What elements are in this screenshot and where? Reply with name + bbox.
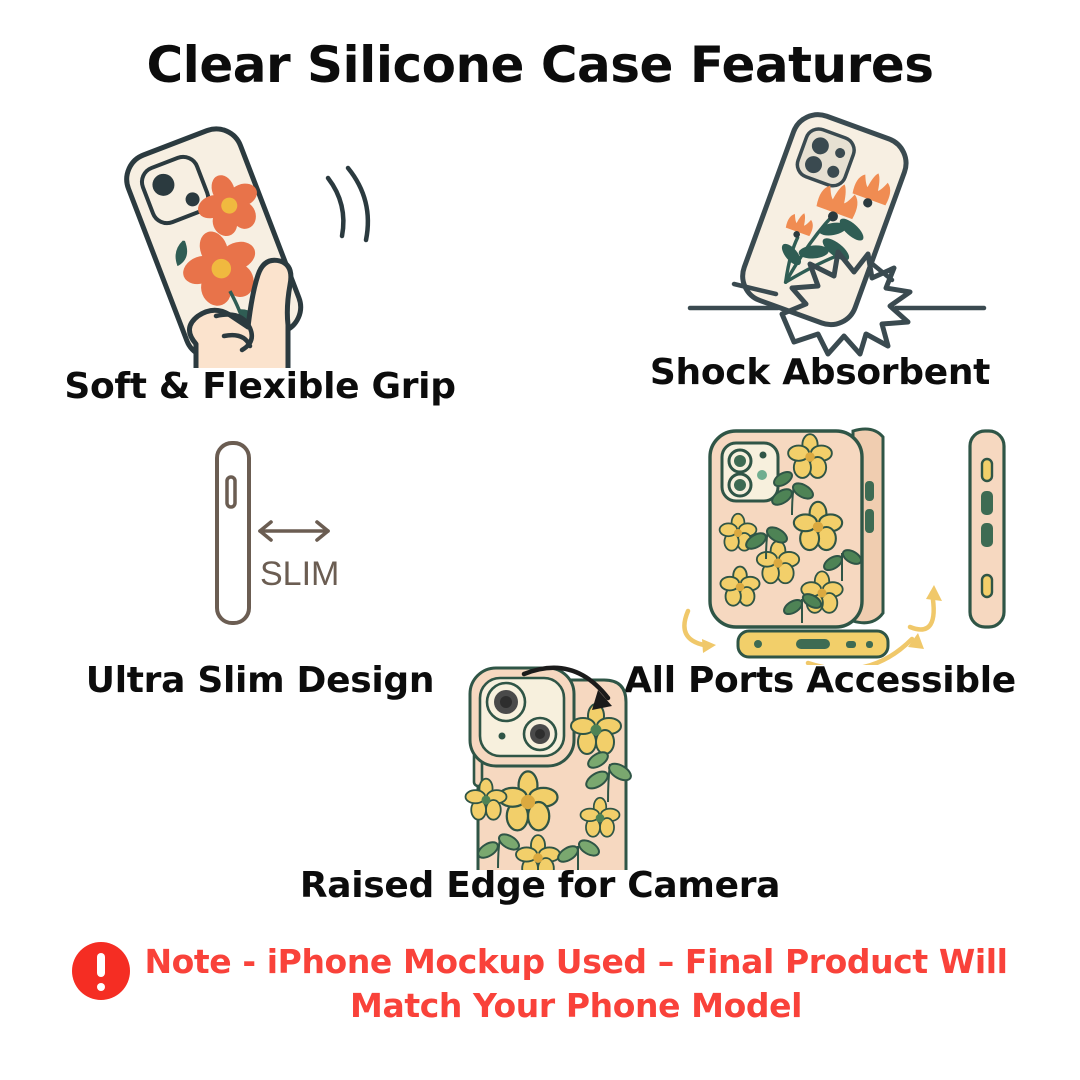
feature-label: Shock Absorbent xyxy=(570,352,1070,393)
infographic-page: Clear Silicone Case Features xyxy=(0,0,1080,1080)
side-profile-strip xyxy=(970,431,1004,627)
feature-raised-edge-for-camera: Raised Edge for Camera xyxy=(290,660,790,920)
exclamation-circle-icon xyxy=(72,942,130,1000)
hand-holding-flexing-phone-case-icon xyxy=(10,118,510,368)
phone-back-side-bottom-ports-arrows-icon xyxy=(570,415,1070,665)
exclamation-dot xyxy=(97,983,105,991)
slim-annotation-label: SLIM xyxy=(260,555,339,593)
page-title: Clear Silicone Case Features xyxy=(0,36,1080,94)
note-line-2: Match Your Phone Model xyxy=(144,984,1007,1028)
feature-label: Raised Edge for Camera xyxy=(290,865,790,906)
note-banner: Note - iPhone Mockup Used – Final Produc… xyxy=(0,940,1080,1027)
phone-dropping-impact-burst-icon xyxy=(570,112,1070,362)
note-text: Note - iPhone Mockup Used – Final Produc… xyxy=(144,940,1007,1027)
note-line-1: Note - iPhone Mockup Used – Final Produc… xyxy=(144,942,1007,981)
phone-camera-raised-bezel-arrow-icon xyxy=(290,660,790,870)
bottom-edge-ports xyxy=(738,631,888,657)
phone-side-profile-slim-arrow-icon: SLIM xyxy=(10,425,510,655)
exclamation-bar xyxy=(97,953,105,977)
feature-shock-absorbent: Shock Absorbent xyxy=(570,112,1070,402)
feature-label: Soft & Flexible Grip xyxy=(10,366,510,407)
feature-soft-flexible-grip: Soft & Flexible Grip xyxy=(10,118,510,408)
